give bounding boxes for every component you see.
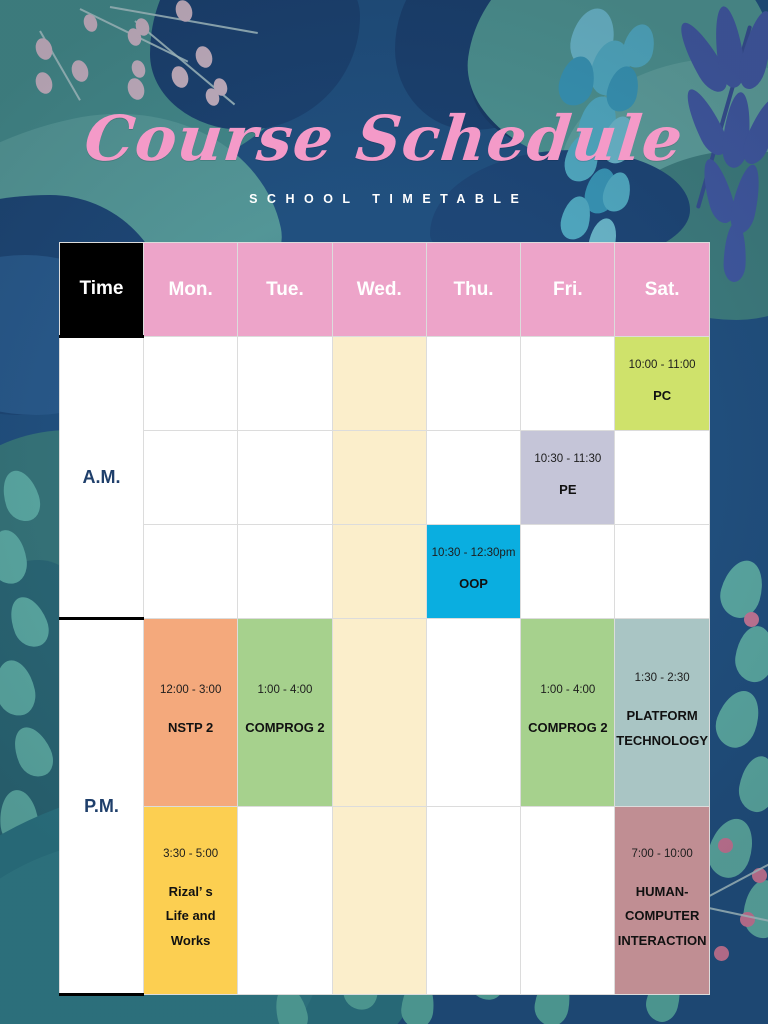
event-course-line-2: TECHNOLOGY	[616, 729, 708, 753]
cell-thu-am-1[interactable]	[426, 337, 520, 431]
event-comprog2-tue: 1:00 - 4:00 COMPROG 2	[238, 619, 331, 806]
cell-thu-pm-1[interactable]	[426, 619, 520, 807]
header-row: Time Mon. Tue. Wed. Thu. Fri. Sat.	[60, 243, 710, 337]
event-course-line-2: COMPUTER	[618, 904, 707, 928]
table-header: Time Mon. Tue. Wed. Thu. Fri. Sat.	[60, 243, 710, 337]
cell-mon-am-3[interactable]	[144, 525, 238, 619]
event-time: 1:30 - 2:30	[635, 672, 690, 684]
cell-sat-am-1-pc[interactable]: 10:00 - 11:00 PC	[615, 337, 709, 431]
column-header-thu: Thu.	[426, 243, 520, 337]
cell-sat-pm-1-platform-technology[interactable]: 1:30 - 2:30 PLATFORM TECHNOLOGY	[615, 619, 709, 807]
cell-wed-pm-1[interactable]	[332, 619, 426, 807]
event-pe: 10:30 - 11:30 PE	[521, 431, 614, 524]
event-course: COMPROG 2	[245, 716, 324, 740]
table-row: P.M. 12:00 - 3:00 NSTP 2 1:00 - 4:00 COM…	[60, 619, 710, 807]
cell-sat-am-2[interactable]	[615, 431, 709, 525]
event-course-line-2: Life and	[166, 904, 216, 928]
event-time: 7:00 - 10:00	[631, 848, 692, 860]
event-course: COMPROG 2	[528, 716, 607, 740]
event-course: PE	[559, 478, 576, 502]
event-pc: 10:00 - 11:00 PC	[615, 337, 708, 430]
cell-wed-am-3[interactable]	[332, 525, 426, 619]
cell-tue-pm-2[interactable]	[238, 807, 332, 995]
cell-mon-am-2[interactable]	[144, 431, 238, 525]
cell-wed-am-1[interactable]	[332, 337, 426, 431]
cell-sat-pm-2-hci[interactable]: 7:00 - 10:00 HUMAN- COMPUTER INTERACTION	[615, 807, 709, 995]
table-row: A.M. 10:00 - 11:00 PC	[60, 337, 710, 431]
poster-header: Course Schedule SCHOOL TIMETABLE	[0, 0, 768, 206]
cell-sat-am-3[interactable]	[615, 525, 709, 619]
cell-wed-pm-2[interactable]	[332, 807, 426, 995]
cell-fri-pm-2[interactable]	[521, 807, 615, 995]
cell-thu-am-3-oop[interactable]: 10:30 - 12:30pm OOP	[426, 525, 520, 619]
event-course-line-1: PLATFORM	[616, 704, 708, 728]
column-header-fri: Fri.	[521, 243, 615, 337]
table-row: 10:30 - 11:30 PE	[60, 431, 710, 525]
event-time: 10:00 - 11:00	[629, 359, 696, 371]
period-label-am: A.M.	[60, 337, 144, 619]
cell-tue-am-1[interactable]	[238, 337, 332, 431]
table-row: 3:30 - 5:00 Rizal’ s Life and Works 7:00…	[60, 807, 710, 995]
cell-fri-pm-1-comprog2[interactable]: 1:00 - 4:00 COMPROG 2	[521, 619, 615, 807]
column-header-tue: Tue.	[238, 243, 332, 337]
event-course-line-3: Works	[166, 929, 216, 953]
event-course: HUMAN- COMPUTER INTERACTION	[618, 880, 707, 952]
event-course: OOP	[459, 572, 488, 596]
cell-thu-am-2[interactable]	[426, 431, 520, 525]
column-header-wed: Wed.	[332, 243, 426, 337]
table-body: A.M. 10:00 - 11:00 PC	[60, 337, 710, 995]
page-title: Course Schedule	[0, 108, 768, 170]
event-rizal-life-and-works: 3:30 - 5:00 Rizal’ s Life and Works	[144, 807, 237, 994]
cell-mon-am-1[interactable]	[144, 337, 238, 431]
cell-fri-am-1[interactable]	[521, 337, 615, 431]
schedule-table: Time Mon. Tue. Wed. Thu. Fri. Sat. A.M.	[59, 242, 710, 996]
event-course-line-1: HUMAN-	[618, 880, 707, 904]
cell-tue-am-2[interactable]	[238, 431, 332, 525]
table-row: 10:30 - 12:30pm OOP	[60, 525, 710, 619]
event-course: PLATFORM TECHNOLOGY	[616, 704, 708, 752]
event-course-line-3: INTERACTION	[618, 929, 707, 953]
cell-fri-am-2-pe[interactable]: 10:30 - 11:30 PE	[521, 431, 615, 525]
column-header-mon: Mon.	[144, 243, 238, 337]
event-time: 10:30 - 11:30	[534, 453, 601, 465]
event-time: 1:00 - 4:00	[257, 684, 312, 696]
event-time: 3:30 - 5:00	[163, 848, 218, 860]
event-course: NSTP 2	[168, 716, 213, 740]
cell-tue-pm-1-comprog2[interactable]: 1:00 - 4:00 COMPROG 2	[238, 619, 332, 807]
event-nstp2: 12:00 - 3:00 NSTP 2	[144, 619, 237, 806]
period-label-pm: P.M.	[60, 619, 144, 995]
cell-wed-am-2[interactable]	[332, 431, 426, 525]
event-time: 12:00 - 3:00	[160, 684, 221, 696]
event-human-computer-interaction: 7:00 - 10:00 HUMAN- COMPUTER INTERACTION	[615, 807, 708, 994]
column-header-time: Time	[60, 243, 144, 337]
cell-mon-pm-2-rizal[interactable]: 3:30 - 5:00 Rizal’ s Life and Works	[144, 807, 238, 995]
cell-tue-am-3[interactable]	[238, 525, 332, 619]
schedule-table-container: Time Mon. Tue. Wed. Thu. Fri. Sat. A.M.	[59, 242, 709, 996]
event-course: Rizal’ s Life and Works	[166, 880, 216, 952]
cell-fri-am-3[interactable]	[521, 525, 615, 619]
column-header-sat: Sat.	[615, 243, 709, 337]
event-platform-technology: 1:30 - 2:30 PLATFORM TECHNOLOGY	[615, 619, 708, 806]
event-oop: 10:30 - 12:30pm OOP	[427, 525, 520, 618]
event-course: PC	[653, 384, 671, 408]
event-time: 10:30 - 12:30pm	[432, 547, 516, 559]
event-course-line-1: Rizal’ s	[166, 880, 216, 904]
cell-thu-pm-2[interactable]	[426, 807, 520, 995]
event-time: 1:00 - 4:00	[540, 684, 595, 696]
page-subtitle: SCHOOL TIMETABLE	[0, 192, 768, 206]
cell-mon-pm-1-nstp2[interactable]: 12:00 - 3:00 NSTP 2	[144, 619, 238, 807]
event-comprog2-fri: 1:00 - 4:00 COMPROG 2	[521, 619, 614, 806]
